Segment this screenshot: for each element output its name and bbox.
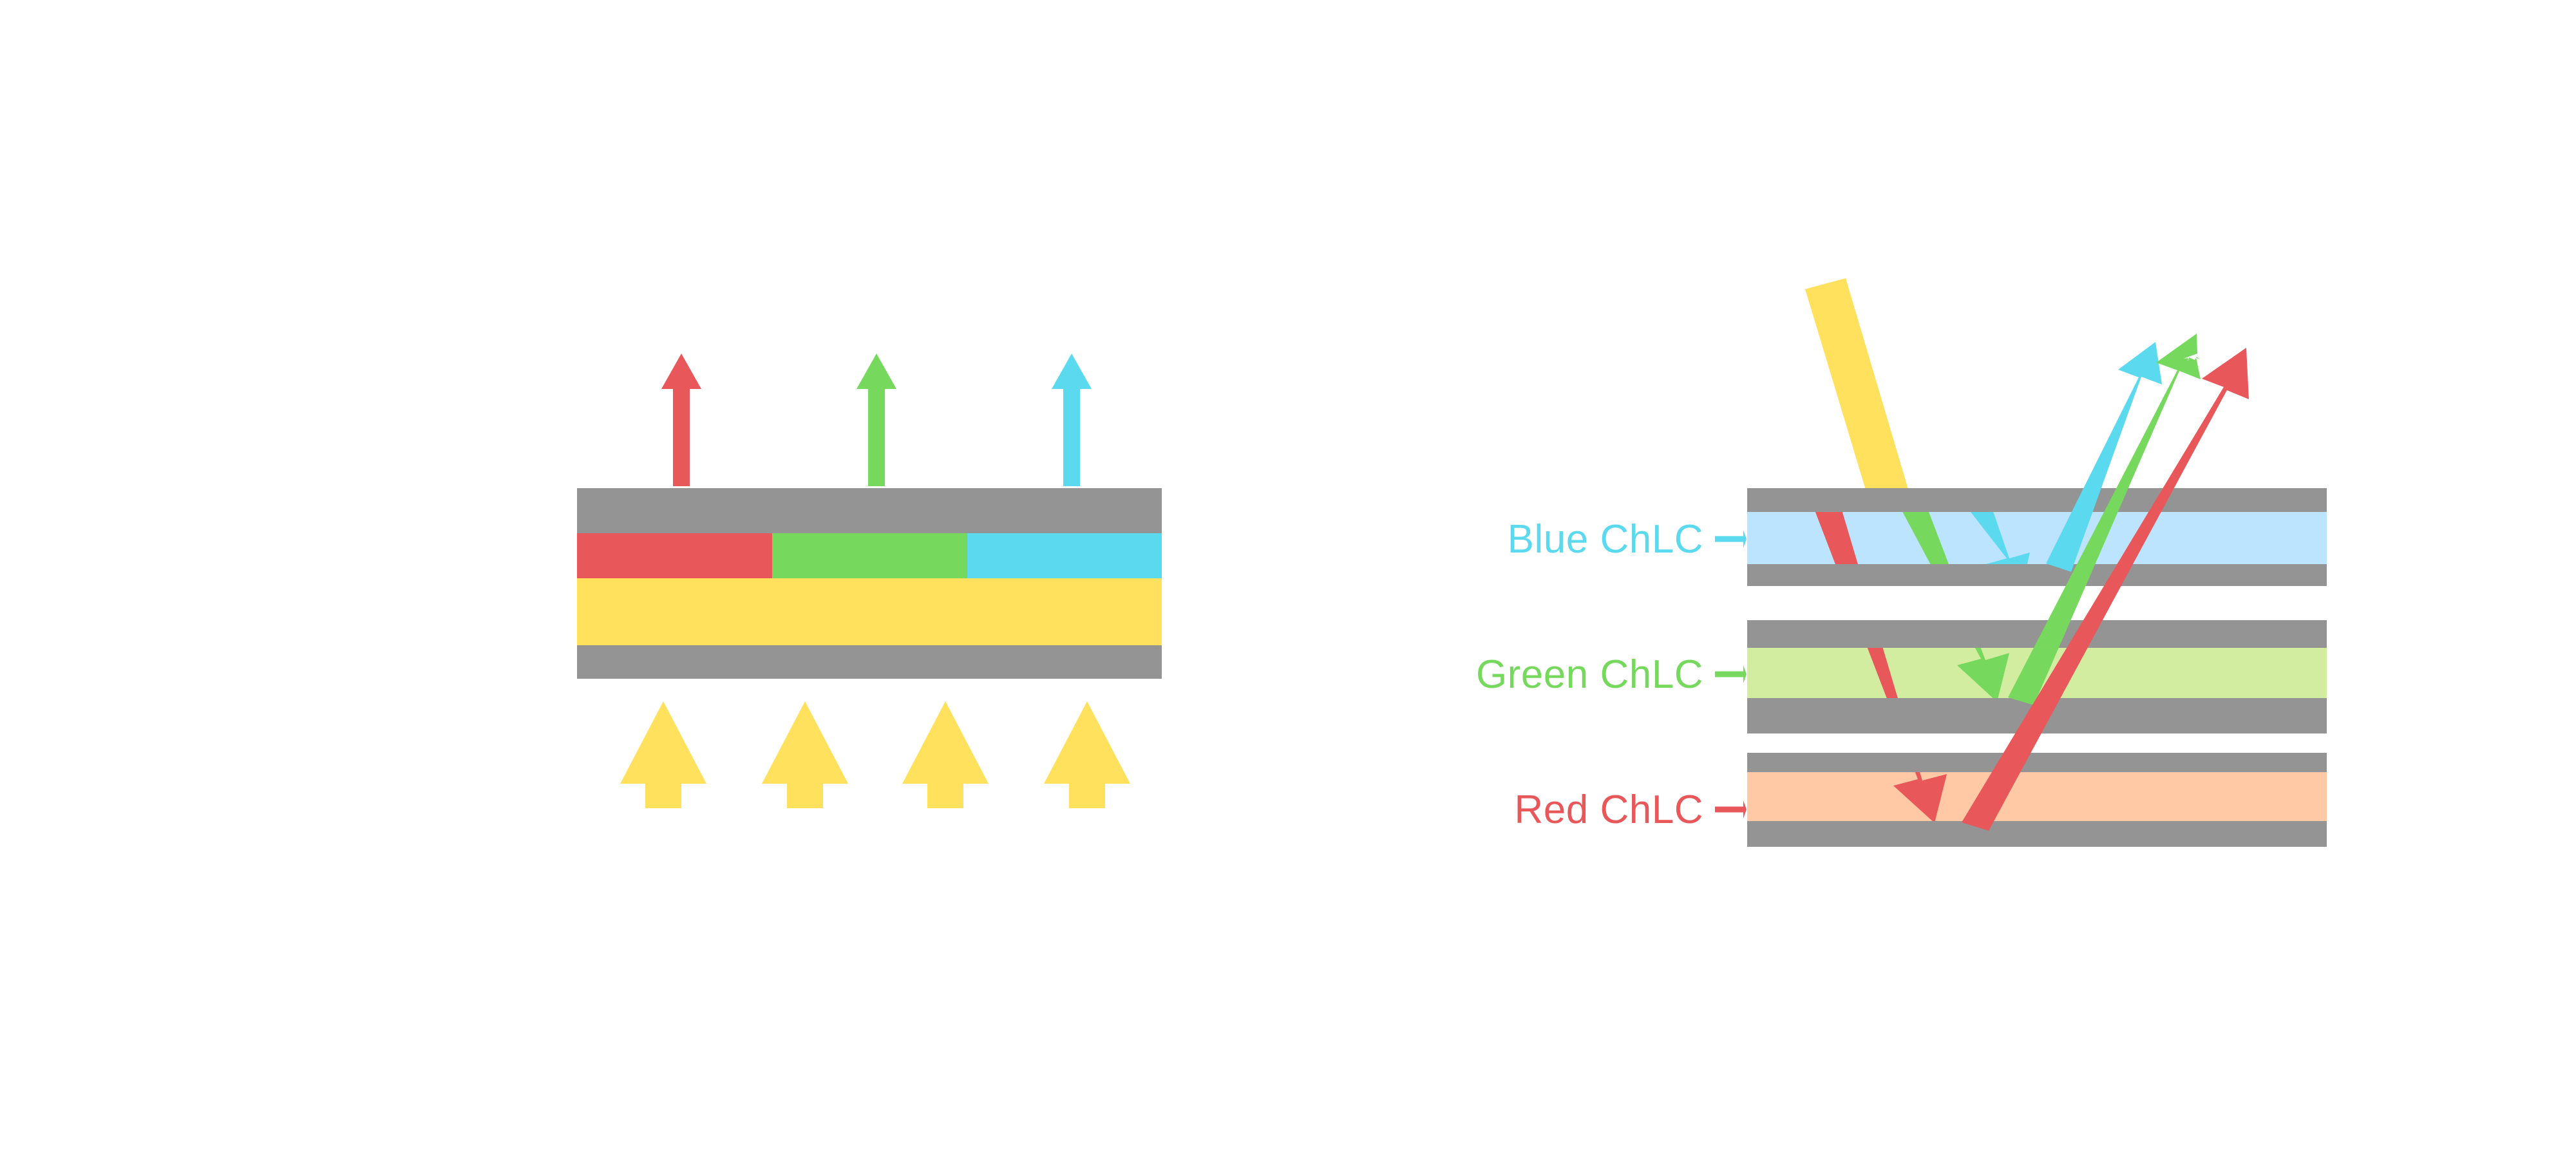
emitted-green-light-arrow <box>857 354 896 486</box>
bottom-gray-electrode <box>577 645 1162 679</box>
blue-chlc-label: Blue ChLC <box>1508 517 1703 562</box>
green-chlc-label-arrowhead-icon <box>1743 665 1747 683</box>
green-chlc-label: Green ChLC <box>1476 652 1703 697</box>
right-panel-group: Blue ChLC Green ChLC Red ChLC <box>1476 278 2327 847</box>
red-filter-segment <box>577 533 772 578</box>
blue-cell-bottom-electrode <box>1747 564 2327 586</box>
left-panel-group <box>577 354 1162 808</box>
air-gap-1 <box>1747 586 2327 620</box>
emitted-blue-light-arrow <box>1052 354 1092 486</box>
backlight-arrow-2 <box>762 701 848 808</box>
blue-cell-top-electrode <box>1747 488 2327 512</box>
red-cell-bottom-electrode <box>1747 821 2327 847</box>
backlight-arrow-4 <box>1044 701 1130 808</box>
top-gray-electrode <box>577 488 1162 533</box>
layer-labels-group: Blue ChLC Green ChLC Red ChLC <box>1476 517 1747 832</box>
emitted-red-light-arrow <box>661 354 701 486</box>
red-chlc-label: Red ChLC <box>1515 788 1703 832</box>
blue-chlc-label-arrowhead-icon <box>1743 530 1747 548</box>
left-backlight-arrows-group <box>620 701 1130 808</box>
blue-filter-segment <box>967 533 1162 578</box>
green-filter-segment <box>772 533 967 578</box>
red-chlc-layer <box>1747 772 2327 821</box>
left-stack-layers-group <box>577 488 1162 679</box>
red-chlc-label-arrowhead-icon <box>1743 800 1747 818</box>
red-cell-top-electrode <box>1747 753 2327 772</box>
backlight-arrow-1 <box>620 701 706 808</box>
yellow-backlight-layer <box>577 578 1162 645</box>
diagram-canvas: Blue ChLC Green ChLC Red ChLC <box>0 0 2576 1154</box>
chlc-display-diagram: Blue ChLC Green ChLC Red ChLC <box>0 0 2576 1154</box>
left-output-arrows-group <box>661 354 1092 486</box>
backlight-arrow-3 <box>902 701 989 808</box>
